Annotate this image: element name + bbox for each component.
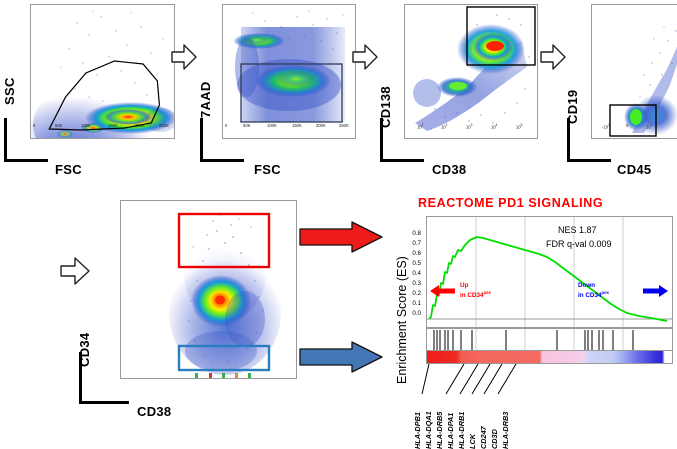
es-tick-0.4: 0.4 <box>405 270 421 277</box>
gsea-panel: REACTOME PD1 SIGNALING Enrichment Score … <box>386 192 677 442</box>
gsea-enrichment-plot[interactable] <box>426 216 673 328</box>
plot-area-cd138-cd38[interactable]: 101 102 103 104 105 101 102 103 104 105 <box>404 4 538 139</box>
up-direction-arrow <box>430 283 456 304</box>
gene-label-1: HLA-DPB1 <box>413 412 422 449</box>
down-line1: Down <box>578 282 595 289</box>
es-tick-0.1: 0.1 <box>405 300 421 307</box>
fdr-value: FDR q-val 0.009 <box>546 239 612 249</box>
axis-label-ssc: SSC <box>2 77 17 105</box>
plot-area-ssc-fsc[interactable]: 0 50K 100K 150K 200K 250K 0 50K 100K 150… <box>30 4 175 139</box>
es-tick-0.0: 0.0 <box>405 310 421 317</box>
gsea-title: REACTOME PD1 SIGNALING <box>418 196 603 210</box>
panel-7aad-vs-fsc: 7AAD FSC <box>196 0 361 185</box>
axis-label-cd138: CD138 <box>378 86 393 128</box>
down-sup: pos <box>601 290 608 295</box>
hit-marks-svg <box>427 329 672 351</box>
axis-rule-vertical <box>4 118 7 162</box>
down-direction-arrow <box>642 283 668 304</box>
axis-rule-horizontal <box>4 159 48 162</box>
up-line1: Up <box>460 282 468 289</box>
axis-rule-horizontal <box>200 159 244 162</box>
axis-label-cd45: CD45 <box>617 162 651 177</box>
axis-label-cd38: CD38 <box>137 404 171 419</box>
nes-value: NES 1.87 <box>558 225 597 235</box>
arrow-right-blue <box>298 340 384 379</box>
es-tick-0.7: 0.7 <box>405 240 421 247</box>
arrow-right-outline-1 <box>171 42 197 77</box>
axis-label-fsc: FSC <box>55 162 82 177</box>
es-tick-0.2: 0.2 <box>405 290 421 297</box>
down-in-cd34pos-label: Down in CD34pos <box>578 282 609 300</box>
es-tick-0.6: 0.6 <box>405 250 421 257</box>
panel-ssc-vs-fsc: SSC FSC <box>0 0 180 185</box>
gene-label-3: HLA-DRB5 <box>435 412 444 449</box>
gene-label-2: HLA-DQA1 <box>424 411 433 449</box>
plot-area-7aad-fsc[interactable]: 0 50K 100K 150K 200K 250K 101 102 103 10… <box>222 4 356 139</box>
plot-area-cd19-cd45[interactable]: -102 0 102 101 102 103 104 105 <box>591 4 677 139</box>
panel-cd34-vs-cd38: CD34 CD38 <box>75 192 310 442</box>
gene-label-7: CD247 <box>479 426 488 449</box>
gene-label-5: HLA-DRB1 <box>457 412 466 449</box>
es-tick-0.3: 0.3 <box>405 280 421 287</box>
gene-label-8: CD3D <box>490 429 499 449</box>
panel-cd19-vs-cd45: CD19 CD45 <box>563 0 677 185</box>
axis-rule-vertical <box>567 118 570 162</box>
axis-label-fsc: FSC <box>254 162 281 177</box>
axis-rule-horizontal <box>567 159 611 162</box>
panel-cd138-vs-cd38: CD138 CD38 <box>376 0 541 185</box>
axis-label-cd34: CD34 <box>77 333 92 367</box>
density-scatter-cd138-cd38 <box>405 5 537 138</box>
density-scatter-7aad-fsc <box>223 5 355 138</box>
density-scatter-ssc-fsc <box>31 5 174 138</box>
gene-label-9: HLA-DRB3 <box>501 412 510 449</box>
density-scatter-cd19-cd45 <box>592 5 677 138</box>
gsea-hit-marks[interactable] <box>426 328 673 352</box>
density-scatter-cd34-cd38 <box>121 201 296 378</box>
up-line2: in CD34 <box>460 292 483 299</box>
es-tick-0.8: 0.8 <box>405 230 421 237</box>
axis-rule-horizontal <box>79 401 129 404</box>
up-in-cd34pos-label: Up in CD34pos <box>460 282 491 300</box>
axis-label-7aad: 7AAD <box>198 81 213 118</box>
gene-label-4: HLA-DPA1 <box>446 413 455 449</box>
plot-area-cd34-cd38[interactable]: 101 102 103 104 105 101 102 103 104 105 <box>120 200 297 379</box>
arrow-right-red <box>298 220 384 259</box>
axis-label-cd19: CD19 <box>565 90 580 124</box>
enrichment-curve-svg <box>427 217 672 327</box>
axis-rule-vertical <box>200 118 203 162</box>
up-sup: pos <box>483 290 490 295</box>
axis-label-cd38: CD38 <box>432 162 466 177</box>
es-tick-0.5: 0.5 <box>405 260 421 267</box>
arrow-right-outline-2 <box>352 42 378 77</box>
down-line2: in CD34 <box>578 292 601 299</box>
axis-rule-horizontal <box>380 159 424 162</box>
